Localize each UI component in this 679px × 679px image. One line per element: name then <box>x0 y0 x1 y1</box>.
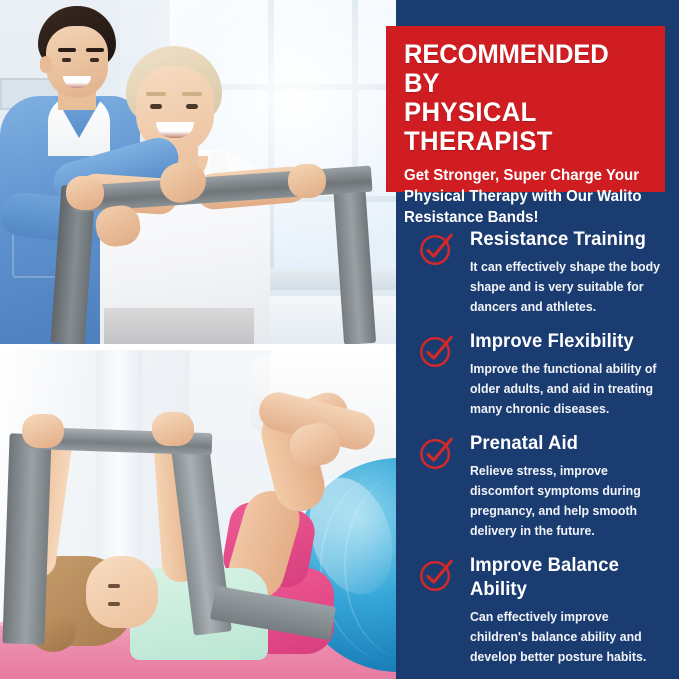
patient-hand <box>288 164 326 198</box>
feature-item-improve-balance-ability: Improve Balance Ability Can effectively … <box>418 554 666 667</box>
headline-line-1: RECOMMENDED BY <box>404 39 609 98</box>
headline-banner: RECOMMENDED BY PHYSICAL THERAPIST Get St… <box>386 26 665 192</box>
headline-subtext: Get Stronger, Super Charge Your Physical… <box>404 165 644 228</box>
child-hand <box>22 414 64 448</box>
patient-eyebrow <box>182 92 202 96</box>
resistance-band <box>2 433 51 644</box>
photo-therapist-with-senior-woman <box>0 0 396 344</box>
feature-title: Prenatal Aid <box>470 432 660 456</box>
feature-list: Resistance Training It can effectively s… <box>418 228 666 679</box>
feature-body: Resistance Training It can effectively s… <box>466 228 666 317</box>
patient-eyebrow <box>146 92 166 96</box>
feature-item-resistance-training: Resistance Training It can effectively s… <box>418 228 666 317</box>
therapist-eyebrow <box>58 48 76 52</box>
check-circle-icon <box>418 434 456 472</box>
check-circle-icon <box>418 556 456 594</box>
feature-title: Resistance Training <box>470 228 660 252</box>
feature-description: It can effectively shape the body shape … <box>470 257 662 317</box>
therapist-eye <box>62 58 71 62</box>
therapist-eyebrow <box>86 48 104 52</box>
patient-eye <box>186 104 198 109</box>
patient-pants <box>104 308 254 344</box>
child-face <box>86 556 158 628</box>
child-hand <box>152 412 194 446</box>
feature-body: Improve Flexibility Improve the function… <box>466 330 666 419</box>
headline: RECOMMENDED BY PHYSICAL THERAPIST <box>404 40 639 156</box>
check-circle-icon <box>418 332 456 370</box>
feature-description: Can effectively improve children's balan… <box>470 607 662 667</box>
product-infographic: RECOMMENDED BY PHYSICAL THERAPIST Get St… <box>0 0 679 679</box>
patient-hand <box>66 176 104 210</box>
feature-body: Improve Balance Ability Can effectively … <box>466 554 666 667</box>
therapist-eye <box>90 58 99 62</box>
patient-eye <box>150 104 162 109</box>
child-eye <box>108 584 120 588</box>
feature-item-prenatal-aid: Prenatal Aid Relieve stress, improve dis… <box>418 432 666 541</box>
feature-item-improve-flexibility: Improve Flexibility Improve the function… <box>418 330 666 419</box>
feature-body: Prenatal Aid Relieve stress, improve dis… <box>466 432 666 541</box>
headline-line-2: PHYSICAL THERAPIST <box>404 97 553 156</box>
therapist-ear <box>40 56 52 73</box>
feature-description: Relieve stress, improve discomfort sympt… <box>470 461 662 541</box>
feature-title: Improve Flexibility <box>470 330 660 354</box>
child-eye <box>108 602 120 606</box>
feature-title: Improve Balance Ability <box>470 554 660 602</box>
feature-description: Improve the functional ability of older … <box>470 359 662 419</box>
photo-child-on-exercise-ball <box>0 350 396 679</box>
check-circle-icon <box>418 230 456 268</box>
photo-column <box>0 0 396 679</box>
